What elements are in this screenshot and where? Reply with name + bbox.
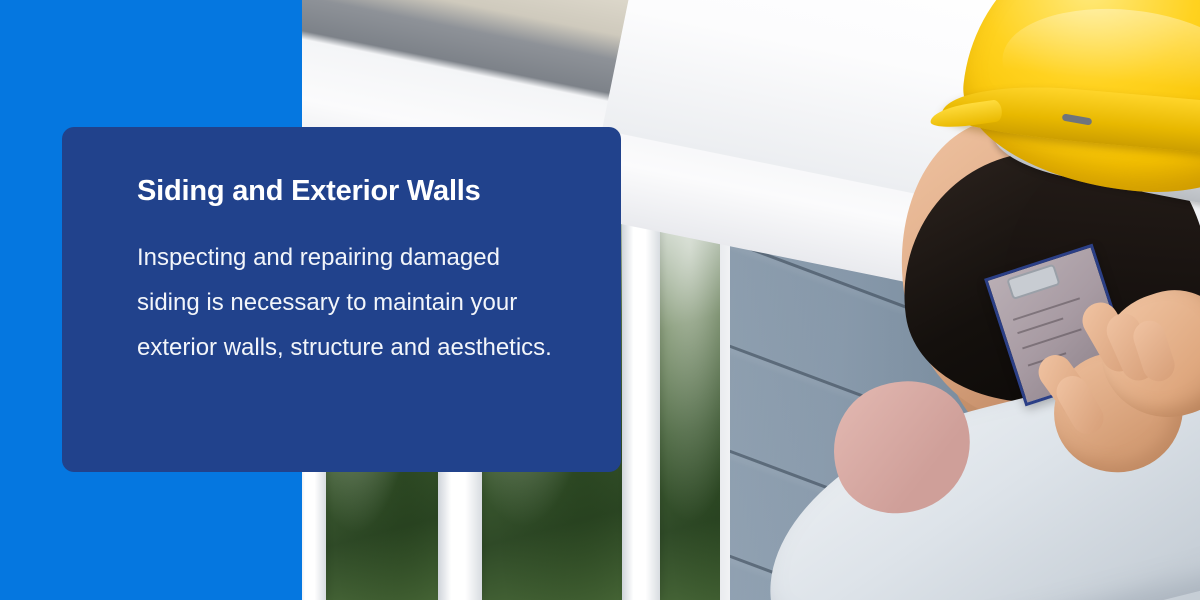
promo-banner: Siding and Exterior Walls Inspecting and… bbox=[0, 0, 1200, 600]
card-description: Inspecting and repairing damaged siding … bbox=[137, 235, 567, 370]
clipboard-clip bbox=[1006, 264, 1060, 300]
page-title: Siding and Exterior Walls bbox=[137, 175, 621, 208]
form-line bbox=[1013, 297, 1080, 321]
info-card: Siding and Exterior Walls Inspecting and… bbox=[62, 127, 621, 472]
form-line bbox=[1022, 328, 1082, 349]
form-line bbox=[1017, 317, 1063, 334]
